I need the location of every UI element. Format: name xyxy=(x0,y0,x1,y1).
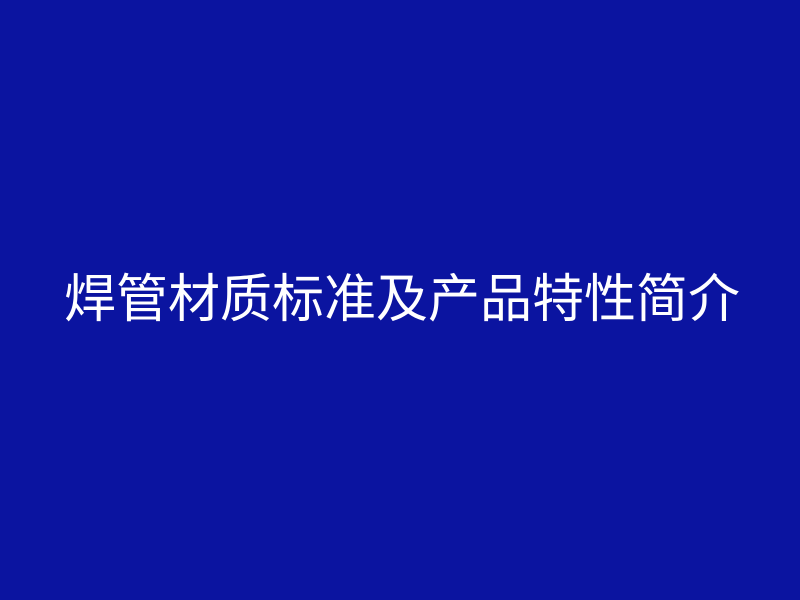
slide-title: 焊管材质标准及产品特性简介 xyxy=(0,273,740,328)
slide-title-block: 焊管材质标准及产品特性简介 xyxy=(0,0,800,600)
presentation-slide: 焊管材质标准及产品特性简介 xyxy=(0,0,800,600)
